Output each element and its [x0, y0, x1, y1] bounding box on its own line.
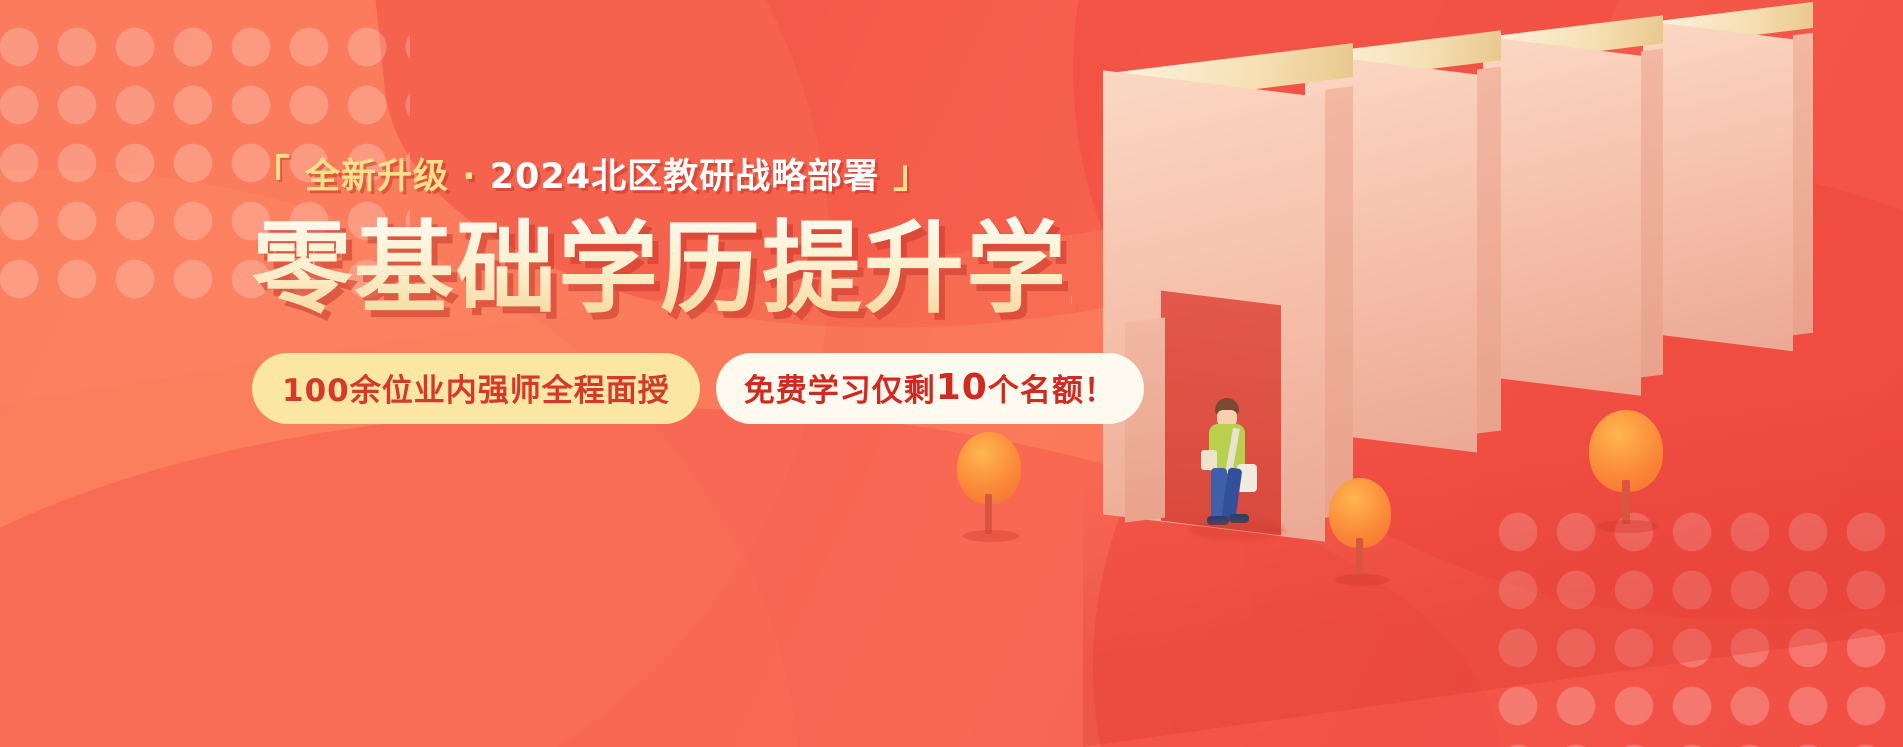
book-arch-4 — [1643, 12, 1813, 342]
eyebrow-text: 全新升级 · 2024北区教研战略部署 — [305, 148, 879, 199]
tree-trunk — [1356, 538, 1363, 578]
copy-block: 「 全新升级 · 2024北区教研战略部署 」 零基础学历提升学霸班 100余位… — [252, 148, 1072, 424]
tree-shadow — [1597, 520, 1659, 533]
book-arch-3 — [1483, 26, 1663, 386]
open-bracket-icon: 「 — [252, 155, 291, 193]
eyebrow-main-text: 2024北区教研战略部署 — [490, 157, 879, 197]
promo-banner: 「 全新升级 · 2024北区教研战略部署 」 零基础学历提升学霸班 100余位… — [0, 0, 1903, 747]
eyebrow-line: 「 全新升级 · 2024北区教研战略部署 」 — [252, 148, 1072, 199]
book-side — [1793, 33, 1813, 335]
pill-seats-suffix: 个名额！ — [988, 365, 1116, 410]
highlight-pill-row: 100余位业内强师全程面授 免费学习仅剩10个名额！ — [252, 353, 1072, 424]
illustration — [1043, 0, 1903, 747]
person-book-held — [1201, 450, 1217, 470]
person-shadow — [1189, 520, 1285, 540]
page-title: 零基础学历提升学霸班 — [252, 215, 1072, 323]
tree-trunk — [1622, 480, 1630, 524]
tree-trunk — [985, 494, 992, 534]
close-bracket-icon: 」 — [893, 155, 932, 193]
book-side — [1477, 67, 1501, 434]
book-side — [1641, 49, 1663, 378]
person-student — [1195, 398, 1265, 528]
pill-seats-number: 10 — [936, 367, 988, 408]
tree-right — [1581, 410, 1673, 534]
book-side — [1325, 86, 1353, 517]
tree-middle — [1321, 478, 1401, 588]
book-spine — [1483, 36, 1641, 395]
pill-instructors[interactable]: 100余位业内强师全程面授 — [252, 353, 700, 424]
tree-shadow — [963, 530, 1019, 542]
pill-seats-prefix: 免费学习仅剩 — [744, 365, 936, 410]
book-spine — [1643, 21, 1793, 351]
eyebrow-accent-text: 全新升级 · — [305, 157, 490, 197]
tree-left — [949, 432, 1029, 542]
book-doorway-jamb — [1125, 318, 1165, 523]
tree-shadow — [1335, 574, 1389, 586]
pill-seats-remaining[interactable]: 免费学习仅剩10个名额！ — [716, 353, 1144, 424]
